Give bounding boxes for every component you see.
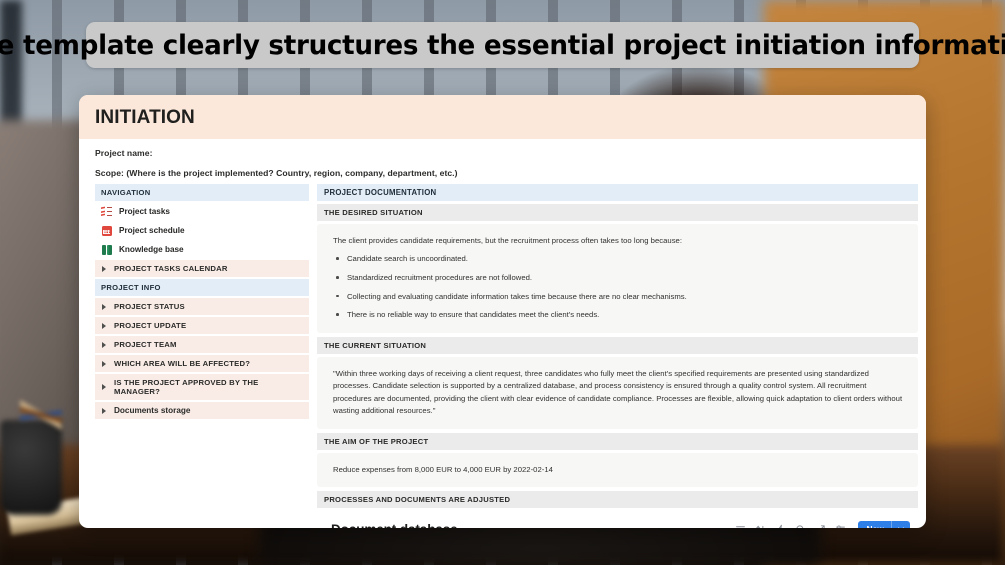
filter-icon[interactable] (735, 524, 746, 528)
page-title: INITIATION (95, 107, 910, 129)
caption-text: The template clearly structures the esse… (0, 30, 1005, 61)
card-body: NAVIGATION Project tasks Project schedul… (79, 184, 926, 528)
sidebar-item-label: Project schedule (119, 226, 185, 235)
toggle-label: PROJECT UPDATE (114, 321, 186, 330)
chevron-right-icon (102, 361, 106, 367)
toggle-label: PROJECT STATUS (114, 302, 185, 311)
chevron-right-icon (102, 384, 106, 390)
aim-text: Reduce expenses from 8,000 EUR to 4,000 … (333, 464, 904, 476)
document-database: Document database (317, 511, 918, 528)
panel-aim: Reduce expenses from 8,000 EUR to 4,000 … (317, 453, 918, 487)
meta-project-name: Project name: (95, 148, 910, 158)
panel-current-situation: "Within three working days of receiving … (317, 357, 918, 429)
document-card: INITIATION Project name: Scope: (Where i… (79, 95, 926, 528)
books-icon (101, 244, 112, 255)
section-current-situation: THE CURRENT SITUATION (317, 337, 918, 354)
toggle-label: PROJECT TEAM (114, 340, 177, 349)
section-processes-adjusted: PROCESSES AND DOCUMENTS ARE ADJUSTED (317, 491, 918, 508)
meta-scope: Scope: (Where is the project implemented… (95, 168, 910, 178)
current-situation-text: "Within three working days of receiving … (333, 368, 904, 418)
section-project-documentation: PROJECT DOCUMENTATION (317, 184, 918, 201)
database-title: Document database (331, 522, 458, 528)
sidebar-item-project-schedule[interactable]: Project schedule (95, 222, 309, 239)
desired-intro: The client provides candidate requiremen… (333, 235, 904, 247)
toggle-label: Documents storage (114, 406, 190, 415)
sidebar-section-project-info: PROJECT INFO (95, 279, 309, 296)
toggle-project-tasks-calendar[interactable]: PROJECT TASKS CALENDAR (95, 260, 309, 277)
list-item: Standardized recruitment procedures are … (333, 272, 904, 284)
chevron-right-icon (102, 342, 106, 348)
new-button[interactable]: New (858, 521, 910, 528)
chevron-right-icon (102, 408, 106, 414)
toggle-label: IS THE PROJECT APPROVED BY THE MANAGER? (114, 378, 303, 396)
section-aim-of-project: THE AIM OF THE PROJECT (317, 433, 918, 450)
new-button-label: New (858, 521, 891, 528)
view-settings-icon[interactable] (835, 524, 846, 528)
automation-lightning-icon[interactable] (775, 524, 786, 528)
sidebar-item-project-tasks[interactable]: Project tasks (95, 203, 309, 220)
pencils-blur (20, 385, 62, 445)
chevron-down-icon[interactable] (892, 521, 910, 528)
toggle-project-status[interactable]: PROJECT STATUS (95, 298, 309, 315)
sort-icon[interactable] (755, 524, 766, 528)
main-column: PROJECT DOCUMENTATION THE DESIRED SITUAT… (317, 184, 926, 528)
list-item: Candidate search is uncoordinated. (333, 253, 904, 265)
desired-bullet-list: Candidate search is uncoordinated. Stand… (333, 253, 904, 320)
sidebar-item-label: Knowledge base (119, 245, 184, 254)
expand-icon[interactable] (815, 524, 826, 528)
chevron-right-icon (102, 266, 106, 272)
toggle-project-update[interactable]: PROJECT UPDATE (95, 317, 309, 334)
page-meta: Project name: Scope: (Where is the proje… (79, 139, 926, 184)
sidebar: NAVIGATION Project tasks Project schedul… (79, 184, 317, 528)
chevron-right-icon (102, 304, 106, 310)
checklist-icon (101, 206, 112, 217)
search-icon[interactable] (795, 524, 806, 528)
toggle-label: PROJECT TASKS CALENDAR (114, 264, 228, 273)
chevron-right-icon (102, 323, 106, 329)
calendar-icon (101, 225, 112, 236)
list-item: Collecting and evaluating candidate info… (333, 291, 904, 303)
page-header: INITIATION (79, 95, 926, 139)
list-item: There is no reliable way to ensure that … (333, 309, 904, 321)
sidebar-item-label: Project tasks (119, 207, 170, 216)
sidebar-item-knowledge-base[interactable]: Knowledge base (95, 241, 309, 258)
caption-banner: The template clearly structures the esse… (86, 22, 919, 68)
toggle-which-area-affected[interactable]: WHICH AREA WILL BE AFFECTED? (95, 355, 309, 372)
database-header: Document database (317, 515, 918, 528)
toggle-documents-storage[interactable]: Documents storage (95, 402, 309, 419)
toggle-approved-by-manager[interactable]: IS THE PROJECT APPROVED BY THE MANAGER? (95, 374, 309, 400)
section-desired-situation: THE DESIRED SITUATION (317, 204, 918, 221)
panel-desired-situation: The client provides candidate requiremen… (317, 224, 918, 333)
toggle-label: WHICH AREA WILL BE AFFECTED? (114, 359, 250, 368)
database-toolbar: New (735, 521, 910, 528)
toggle-project-team[interactable]: PROJECT TEAM (95, 336, 309, 353)
sidebar-section-navigation: NAVIGATION (95, 184, 309, 201)
